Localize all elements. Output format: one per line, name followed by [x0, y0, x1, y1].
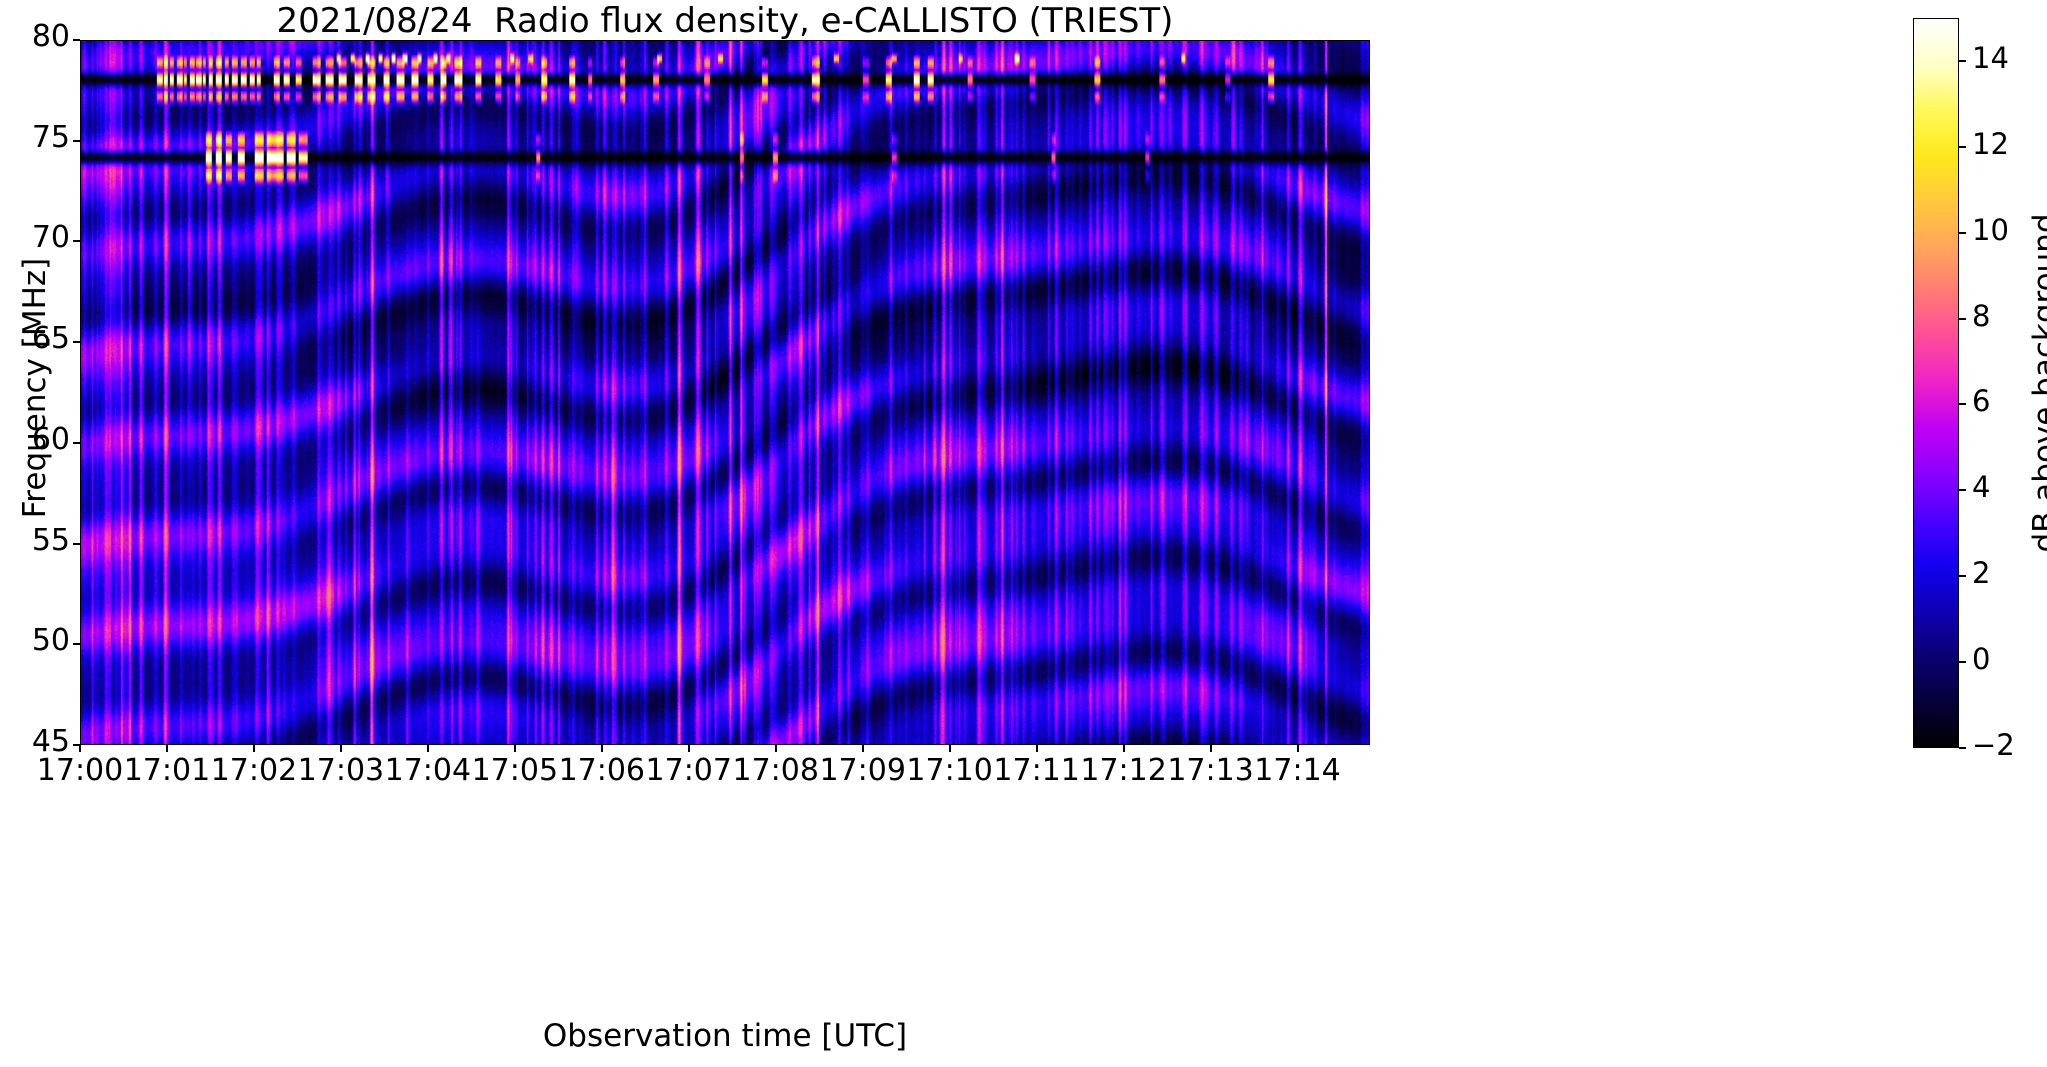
colorbar-label: dB above background — [2027, 63, 2047, 703]
x-tick-mark — [514, 745, 516, 752]
y-tick-label: 80 — [8, 19, 70, 54]
x-tick-mark — [949, 745, 951, 752]
y-tick-mark — [73, 543, 80, 545]
y-tick-label: 55 — [8, 523, 70, 558]
y-tick-mark — [73, 442, 80, 444]
x-tick-mark — [253, 745, 255, 752]
x-tick-mark — [79, 745, 81, 752]
x-axis-label: Observation time [UTC] — [80, 1018, 1370, 1054]
spectrogram-figure: 2021/08/24 Radio flux density, e-CALLIST… — [0, 0, 2047, 1067]
colorbar-tick-label: 10 — [1972, 213, 2009, 247]
x-tick-label: 17:14 — [1223, 753, 1373, 788]
x-tick-mark — [775, 745, 777, 752]
x-tick-mark — [166, 745, 168, 752]
colorbar-tick-label: −2 — [1972, 728, 2015, 762]
x-tick-mark — [601, 745, 603, 752]
colorbar-tick-label: 0 — [1972, 642, 1990, 676]
y-tick-label: 60 — [8, 422, 70, 457]
y-tick-mark — [73, 240, 80, 242]
colorbar-tick-label: 2 — [1972, 556, 1990, 590]
colorbar-gradient — [1914, 19, 1958, 747]
colorbar-tick-mark — [1959, 146, 1966, 148]
colorbar-tick-mark — [1959, 575, 1966, 577]
colorbar — [1913, 18, 1959, 748]
y-tick-mark — [73, 341, 80, 343]
colorbar-tick-mark — [1959, 318, 1966, 320]
colorbar-tick-mark — [1959, 60, 1966, 62]
colorbar-tick-label: 6 — [1972, 384, 1990, 418]
plot-area — [80, 40, 1370, 745]
colorbar-tick-mark — [1959, 403, 1966, 405]
page-title: 2021/08/24 Radio flux density, e-CALLIST… — [80, 2, 1370, 40]
colorbar-tick-mark — [1959, 232, 1966, 234]
y-tick-mark — [73, 140, 80, 142]
y-tick-mark — [73, 643, 80, 645]
y-tick-label: 65 — [8, 321, 70, 356]
y-axis-label: Frequency [MHz] — [17, 78, 53, 698]
x-tick-mark — [1297, 745, 1299, 752]
x-tick-mark — [1210, 745, 1212, 752]
x-tick-mark — [688, 745, 690, 752]
y-tick-label: 50 — [8, 623, 70, 658]
x-tick-mark — [427, 745, 429, 752]
colorbar-tick-label: 8 — [1972, 299, 1990, 333]
y-tick-mark — [73, 39, 80, 41]
x-tick-mark — [1036, 745, 1038, 752]
x-tick-mark — [340, 745, 342, 752]
x-tick-mark — [862, 745, 864, 752]
colorbar-tick-mark — [1959, 747, 1966, 749]
y-tick-label: 70 — [8, 220, 70, 255]
colorbar-tick-label: 4 — [1972, 470, 1990, 504]
colorbar-tick-label: 12 — [1972, 127, 2009, 161]
colorbar-tick-mark — [1959, 489, 1966, 491]
spectrogram-image — [81, 41, 1369, 744]
colorbar-tick-mark — [1959, 661, 1966, 663]
colorbar-tick-label: 14 — [1972, 41, 2009, 75]
y-tick-label: 75 — [8, 120, 70, 155]
x-tick-mark — [1123, 745, 1125, 752]
